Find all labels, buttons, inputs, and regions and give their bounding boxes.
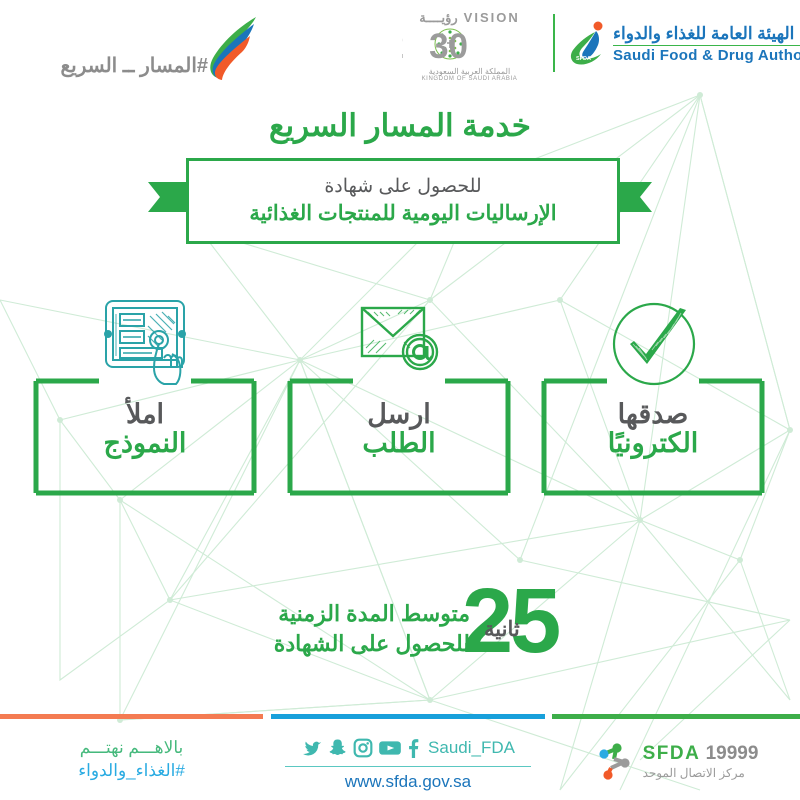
- vision-subtitle-ar: المملكة العربية السعودية: [402, 67, 537, 76]
- step-box: ارسل الطلب: [287, 378, 511, 496]
- step-label-line1: ارسل: [287, 400, 511, 429]
- website-url[interactable]: www.sfda.gov.sa: [271, 772, 545, 792]
- footer: بالاهـــم نهتـــم #الغذاء_والدواء: [0, 714, 800, 800]
- step-verify-electronically: صدقها الكترونيًا: [533, 296, 775, 506]
- vision-2030-number-icon: 2 30: [402, 27, 537, 61]
- header: #المسار ــ السريع VISION رؤيــــة 2: [0, 0, 800, 100]
- sfda-name-en: Saudi Food & Drug Authority: [613, 47, 800, 64]
- svg-text:2: 2: [402, 27, 404, 61]
- twitter-icon[interactable]: [301, 738, 323, 758]
- sfda-logo: الهيئة العامة للغذاء والدواء Saudi Food …: [565, 14, 793, 74]
- tablet-form-hand-icon: [92, 296, 200, 392]
- footer-slogan: بالاهـــم نهتـــم: [0, 738, 263, 758]
- step-label-line1: صدقها: [541, 400, 765, 429]
- checkmark-circle-icon: [600, 296, 708, 392]
- stat-unit: ثانية: [484, 617, 520, 642]
- callcenter-label: مركز الاتصال الموحد: [643, 766, 759, 780]
- sfda-nodes-logo-icon: [594, 740, 636, 782]
- stat-description-line1: متوسط المدة الزمنية: [274, 599, 470, 629]
- banner-line-2: الإرساليات اليومية للمنتجات الغذائية: [249, 200, 556, 227]
- footer-rule-blue: [271, 714, 545, 719]
- page-title: خدمة المسار السريع: [0, 108, 800, 144]
- sfda-figure-logo-icon: SFDA: [565, 20, 609, 68]
- sfda-rule: [613, 45, 800, 46]
- stat-description-line2: للحصول على الشهادة: [274, 629, 470, 659]
- vision-word-ar: رؤيــــة: [419, 10, 457, 26]
- footer-rule-green: [552, 714, 800, 719]
- instagram-icon[interactable]: [353, 738, 373, 758]
- subtitle-banner-box: للحصول على شهادة الإرساليات اليومية للمن…: [186, 158, 620, 244]
- header-divider: [553, 14, 555, 72]
- banner-line-1: للحصول على شهادة: [324, 175, 481, 200]
- campaign-hashtag-text: #المسار ــ السريع: [61, 53, 209, 78]
- step-fill-form: املأ النموذج: [25, 296, 267, 506]
- youtube-icon[interactable]: [378, 738, 402, 758]
- social-icons-row: Saudi_FDA: [271, 736, 545, 760]
- svg-text:30: 30: [429, 27, 468, 61]
- footer-slogan-block: بالاهـــم نهتـــم #الغذاء_والدواء: [0, 738, 263, 781]
- infographic-poster: #المسار ــ السريع VISION رؤيــــة 2: [0, 0, 800, 800]
- sfda-name-ar: الهيئة العامة للغذاء والدواء: [613, 24, 800, 44]
- vision-2030-logo: VISION رؤيــــة 2: [402, 10, 537, 80]
- campaign-hashtag-logo: #المسار ــ السريع: [14, 10, 264, 82]
- step-label-line2: الكترونيًا: [541, 429, 765, 458]
- facebook-icon[interactable]: [407, 738, 419, 758]
- callcenter-number: 19999: [706, 743, 759, 764]
- flame-leaf-logo-icon: [204, 14, 264, 82]
- vision-word-en: VISION: [464, 10, 520, 25]
- snapchat-icon[interactable]: [328, 738, 348, 758]
- stat-description: متوسط المدة الزمنية للحصول على الشهادة: [274, 599, 470, 660]
- steps-row: املأ النموذج: [0, 296, 800, 506]
- step-label-line2: النموذج: [33, 429, 257, 458]
- callcenter-brand: SFDA: [643, 743, 701, 764]
- footer-mid-rule: [285, 766, 531, 767]
- svg-text:SFDA: SFDA: [576, 56, 591, 62]
- footer-social-block: Saudi_FDA www.sfda.gov.sa: [271, 736, 545, 792]
- ribbon-tail-icon-left: [148, 182, 188, 212]
- vision-subtitle-en: KINGDOM OF SAUDI ARABIA: [402, 76, 537, 82]
- footer-hashtag: #الغذاء_والدواء: [0, 761, 263, 781]
- footer-callcenter-block: SFDA 19999 مركز الاتصال الموحد: [552, 740, 800, 782]
- step-box: املأ النموذج: [33, 378, 257, 496]
- subtitle-banner: للحصول على شهادة الإرساليات اليومية للمن…: [0, 158, 800, 244]
- footer-rule-orange: [0, 714, 263, 719]
- average-time-stat: 25 ثانية متوسط المدة الزمنية للحصول على …: [0, 575, 800, 685]
- step-label-line1: املأ: [33, 400, 257, 429]
- social-handle: Saudi_FDA: [428, 738, 515, 758]
- callcenter-number-line: SFDA 19999: [643, 743, 759, 765]
- step-box: صدقها الكترونيًا: [541, 378, 765, 496]
- step-label-line2: الطلب: [287, 429, 511, 458]
- envelope-at-icon: [346, 296, 454, 392]
- step-send-request: ارسل الطلب: [279, 296, 521, 506]
